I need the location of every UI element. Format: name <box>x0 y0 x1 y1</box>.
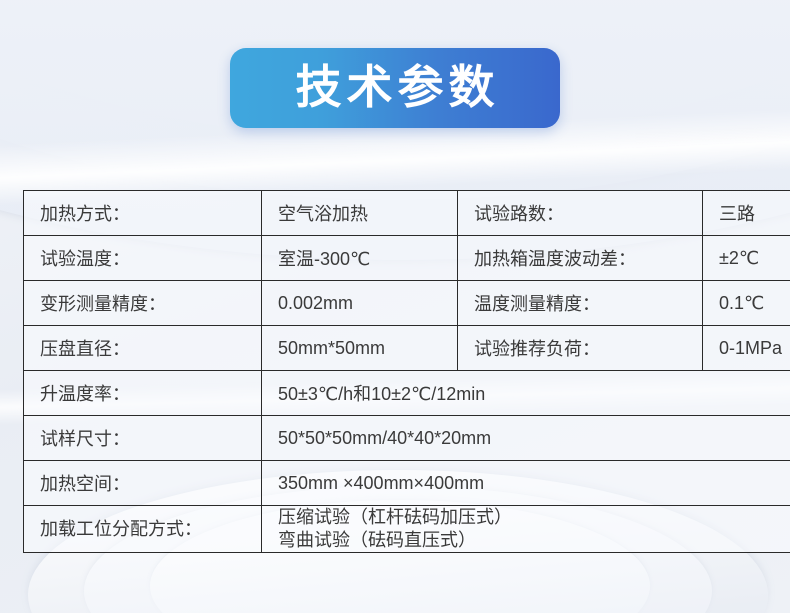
spec-value: 室温-300℃ <box>262 236 458 281</box>
spec-value: 三路 <box>703 191 790 236</box>
table-row: 试样尺寸： 50*50*50mm/40*40*20mm <box>24 416 790 461</box>
spec-value: 0.1℃ <box>703 281 790 326</box>
table-row: 加载工位分配方式： 压缩试验（杠杆砝码加压式） 弯曲试验（砝码直压式） <box>24 506 790 553</box>
spec-label: 压盘直径： <box>24 326 262 371</box>
table-row: 压盘直径： 50mm*50mm 试验推荐负荷： 0-1MPa <box>24 326 790 371</box>
spec-value: ±2℃ <box>703 236 790 281</box>
table-row: 升温度率： 50±3℃/h和10±2℃/12min <box>24 371 790 416</box>
spec-label: 试验温度： <box>24 236 262 281</box>
spec-value: 空气浴加热 <box>262 191 458 236</box>
table-row: 试验温度： 室温-300℃ 加热箱温度波动差： ±2℃ <box>24 236 790 281</box>
spec-value: 压缩试验（杠杆砝码加压式） 弯曲试验（砝码直压式） <box>262 506 790 553</box>
spec-label: 加载工位分配方式： <box>24 506 262 553</box>
spec-label: 升温度率： <box>24 371 262 416</box>
spec-value: 0-1MPa <box>703 326 790 371</box>
table-row: 加热空间： 350mm ×400mm×400mm <box>24 461 790 506</box>
specs-table: 加热方式： 空气浴加热 试验路数： 三路 试验温度： 室温-300℃ 加热箱温度… <box>23 190 790 553</box>
spec-label: 温度测量精度： <box>458 281 703 326</box>
spec-label: 加热方式： <box>24 191 262 236</box>
spec-label: 加热空间： <box>24 461 262 506</box>
technical-parameters-page: 技术参数 加热方式： 空气浴加热 试验路数： 三路 试验温度： 室温-300℃ … <box>0 0 790 613</box>
spec-value-line-2: 弯曲试验（砝码直压式） <box>278 529 790 552</box>
spec-value: 50mm*50mm <box>262 326 458 371</box>
spec-value: 350mm ×400mm×400mm <box>262 461 790 506</box>
page-title-container: 技术参数 <box>0 48 790 128</box>
spec-value: 50*50*50mm/40*40*20mm <box>262 416 790 461</box>
specs-table-body: 加热方式： 空气浴加热 试验路数： 三路 试验温度： 室温-300℃ 加热箱温度… <box>24 191 790 553</box>
specs-table-container: 加热方式： 空气浴加热 试验路数： 三路 试验温度： 室温-300℃ 加热箱温度… <box>23 190 764 553</box>
spec-value-line-1: 压缩试验（杠杆砝码加压式） <box>278 506 790 529</box>
spec-label: 试验路数： <box>458 191 703 236</box>
spec-label: 试样尺寸： <box>24 416 262 461</box>
spec-label: 试验推荐负荷： <box>458 326 703 371</box>
table-row: 加热方式： 空气浴加热 试验路数： 三路 <box>24 191 790 236</box>
spec-label: 变形测量精度： <box>24 281 262 326</box>
spec-value: 50±3℃/h和10±2℃/12min <box>262 371 790 416</box>
spec-value: 0.002mm <box>262 281 458 326</box>
page-title: 技术参数 <box>230 48 560 128</box>
spec-label: 加热箱温度波动差： <box>458 236 703 281</box>
table-row: 变形测量精度： 0.002mm 温度测量精度： 0.1℃ <box>24 281 790 326</box>
